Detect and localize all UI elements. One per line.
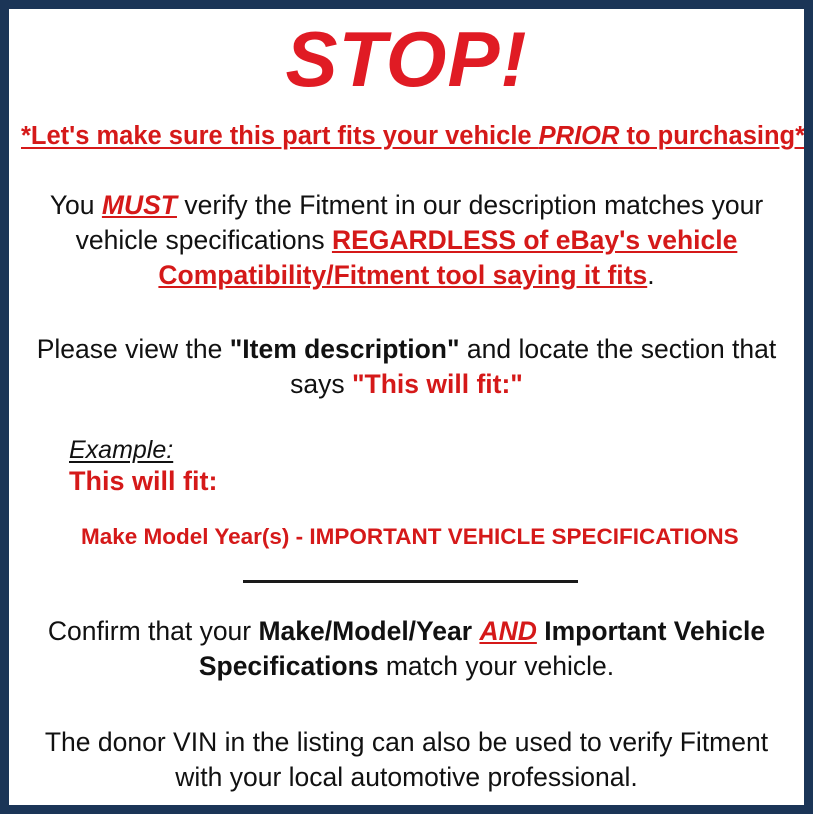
and-emphasis: AND <box>479 616 536 646</box>
fitment-notice-card: STOP! *Let's make sure this part fits yo… <box>0 0 813 814</box>
confirm-paragraph: Confirm that your Make/Model/Year AND Im… <box>21 614 792 684</box>
stop-title: STOP! <box>21 9 792 101</box>
subheading-emphasis-prior: PRIOR <box>539 122 620 150</box>
divider-container <box>21 580 792 588</box>
vin-paragraph: The donor VIN in the listing can also be… <box>21 725 792 795</box>
subheading-text-after: to purchasing* <box>619 122 805 150</box>
confirm-paragraph-part2: match your vehicle. <box>379 651 615 681</box>
this-will-fit-quote: "This will fit:" <box>352 369 523 399</box>
horizontal-rule <box>243 580 578 583</box>
must-emphasis: MUST <box>102 190 177 220</box>
confirm-paragraph-part1: Confirm that your <box>48 616 259 646</box>
must-paragraph-part1: You <box>50 190 102 220</box>
item-description-emphasis: "Item description" <box>230 334 460 364</box>
notice-content: STOP! *Let's make sure this part fits yo… <box>9 9 804 805</box>
example-block: Example: This will fit: Make Model Year(… <box>21 436 792 550</box>
subheading-text-before: *Let's make sure this part fits your veh… <box>21 122 539 150</box>
view-paragraph-part1: Please view the <box>37 334 230 364</box>
must-paragraph-part3: . <box>647 260 654 290</box>
example-fit-header: This will fit: <box>69 466 792 497</box>
must-verify-paragraph: You MUST verify the Fitment in our descr… <box>21 188 792 294</box>
example-spec-line: Make Model Year(s) - IMPORTANT VEHICLE S… <box>69 523 792 550</box>
example-label: Example: <box>69 436 792 464</box>
subheading: *Let's make sure this part fits your veh… <box>21 121 792 152</box>
view-description-paragraph: Please view the "Item description" and l… <box>21 332 792 402</box>
make-model-year-emphasis: Make/Model/Year <box>258 616 472 646</box>
